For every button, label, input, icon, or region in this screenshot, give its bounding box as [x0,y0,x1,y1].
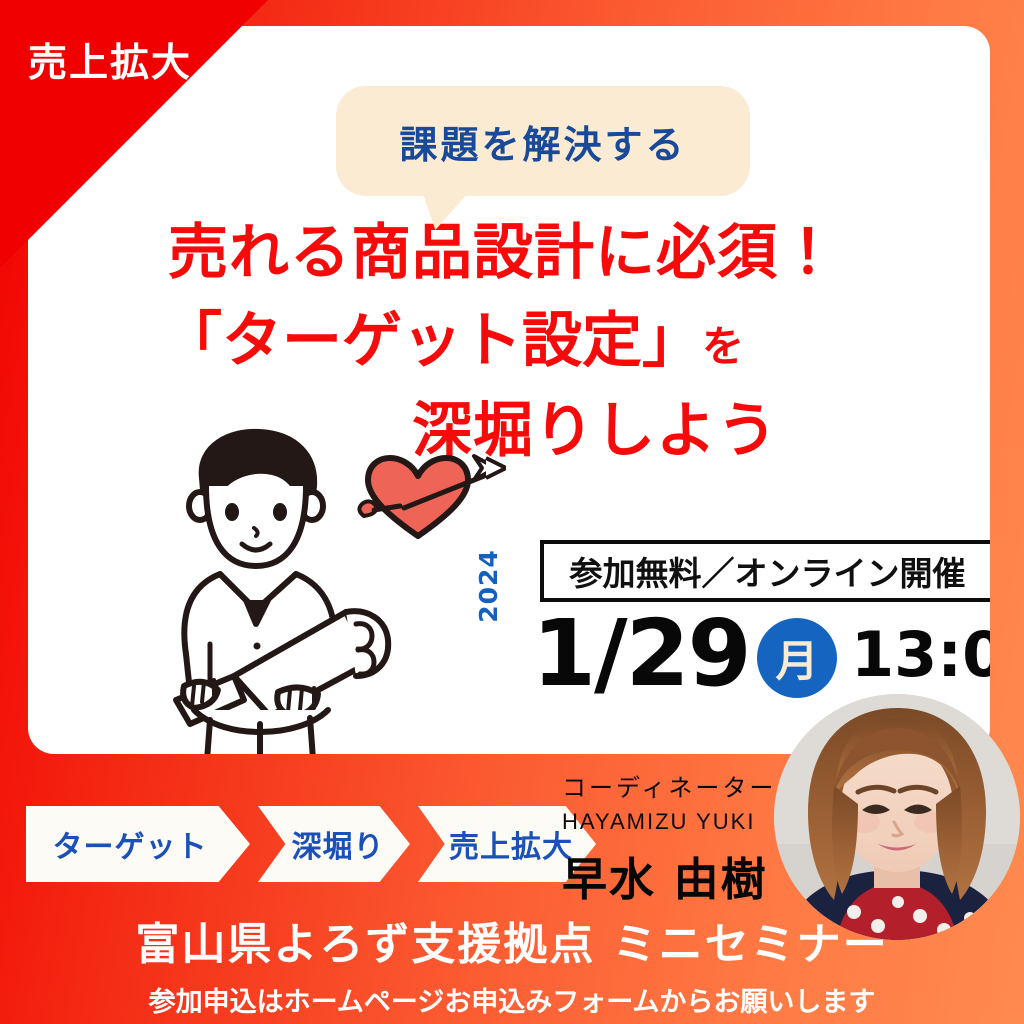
step-chevrons: ターゲット 深堀り 売上拡大 [26,806,596,882]
weekday-badge: 月 [757,618,837,698]
free-online-badge: 参加無料／オンライン開催 [540,540,990,602]
year-label: 2024 [474,546,503,626]
time-label: 13:00 - [851,624,990,686]
coordinator-romaji-name: HAYAMIZU YUKI [562,809,776,835]
seminar-poster: 課題を解決する 売れる商品設計に必須！ 「ターゲット設定」を 深堀りしよう [0,0,1024,1024]
heart-with-arrow-icon [356,448,506,548]
corner-ribbon-label: 売上拡大 [28,32,192,88]
headline-line-2-particle: を [702,322,744,371]
step-chevron-deepdive: 深堀り [258,806,410,882]
free-online-badge-text: 参加無料／オンライン開催 [570,547,966,595]
step-chevron-target-label: ターゲット [53,822,208,866]
main-white-card: 課題を解決する 売れる商品設計に必須！ 「ターゲット設定」を 深堀りしよう [28,26,990,754]
step-chevron-target: ターゲット [26,806,250,882]
weekday-label: 月 [776,627,819,689]
coordinator-role: コーディネーター [562,768,776,803]
coordinator-name: 早水 由樹 [562,843,776,908]
coordinator-block: コーディネーター HAYAMIZU YUKI 早水 由樹 [562,768,776,908]
headline-line-2-quoted: 「ターゲット設定」 [162,306,702,376]
step-chevron-growth-label: 売上拡大 [449,822,573,866]
date-label: 1/29 [532,608,750,700]
speech-bubble: 課題を解決する [336,86,750,196]
coordinator-portrait-photo [774,694,1020,940]
headline-line-1: 売れる商品設計に必須！ [168,222,839,286]
step-chevron-deepdive-label: 深堀り [292,822,385,866]
footer-application-note: 参加申込はホームページお申込みフォームからお願いします [0,980,1024,1019]
headline-line-2: 「ターゲット設定」を [162,310,744,374]
speech-bubble-text: 課題を解決する [336,86,750,196]
